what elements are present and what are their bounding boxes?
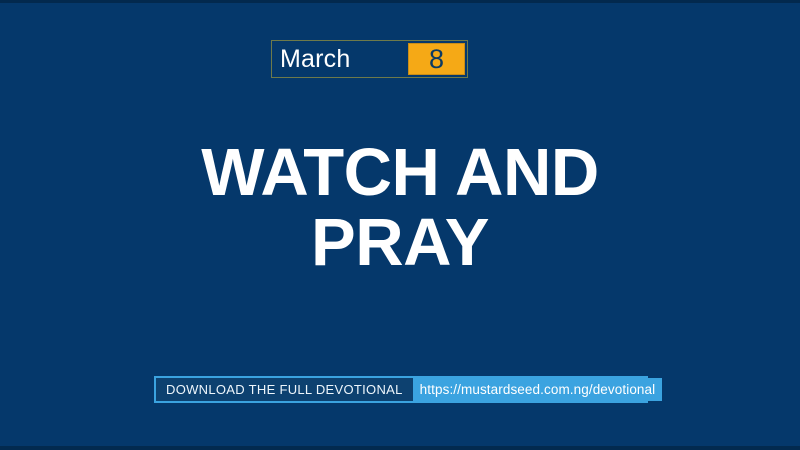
title-line-2: PRAY — [40, 208, 760, 278]
devotional-url-text: https://mustardseed.com.ng/devotional — [420, 383, 656, 397]
title-line-1: WATCH AND — [40, 138, 760, 208]
date-month-label: March — [272, 41, 408, 77]
page-title: WATCH AND PRAY — [0, 138, 800, 277]
date-badge: March 8 — [271, 40, 468, 78]
devotional-url-chip[interactable]: https://mustardseed.com.ng/devotional — [413, 378, 663, 401]
download-devotional-banner[interactable]: DOWNLOAD THE FULL DEVOTIONAL https://mus… — [154, 376, 648, 403]
date-day-chip: 8 — [408, 43, 465, 75]
date-day-number: 8 — [429, 46, 444, 73]
devotional-slide: March 8 WATCH AND PRAY DOWNLOAD THE FULL… — [0, 0, 800, 450]
download-devotional-label: DOWNLOAD THE FULL DEVOTIONAL — [156, 378, 413, 401]
